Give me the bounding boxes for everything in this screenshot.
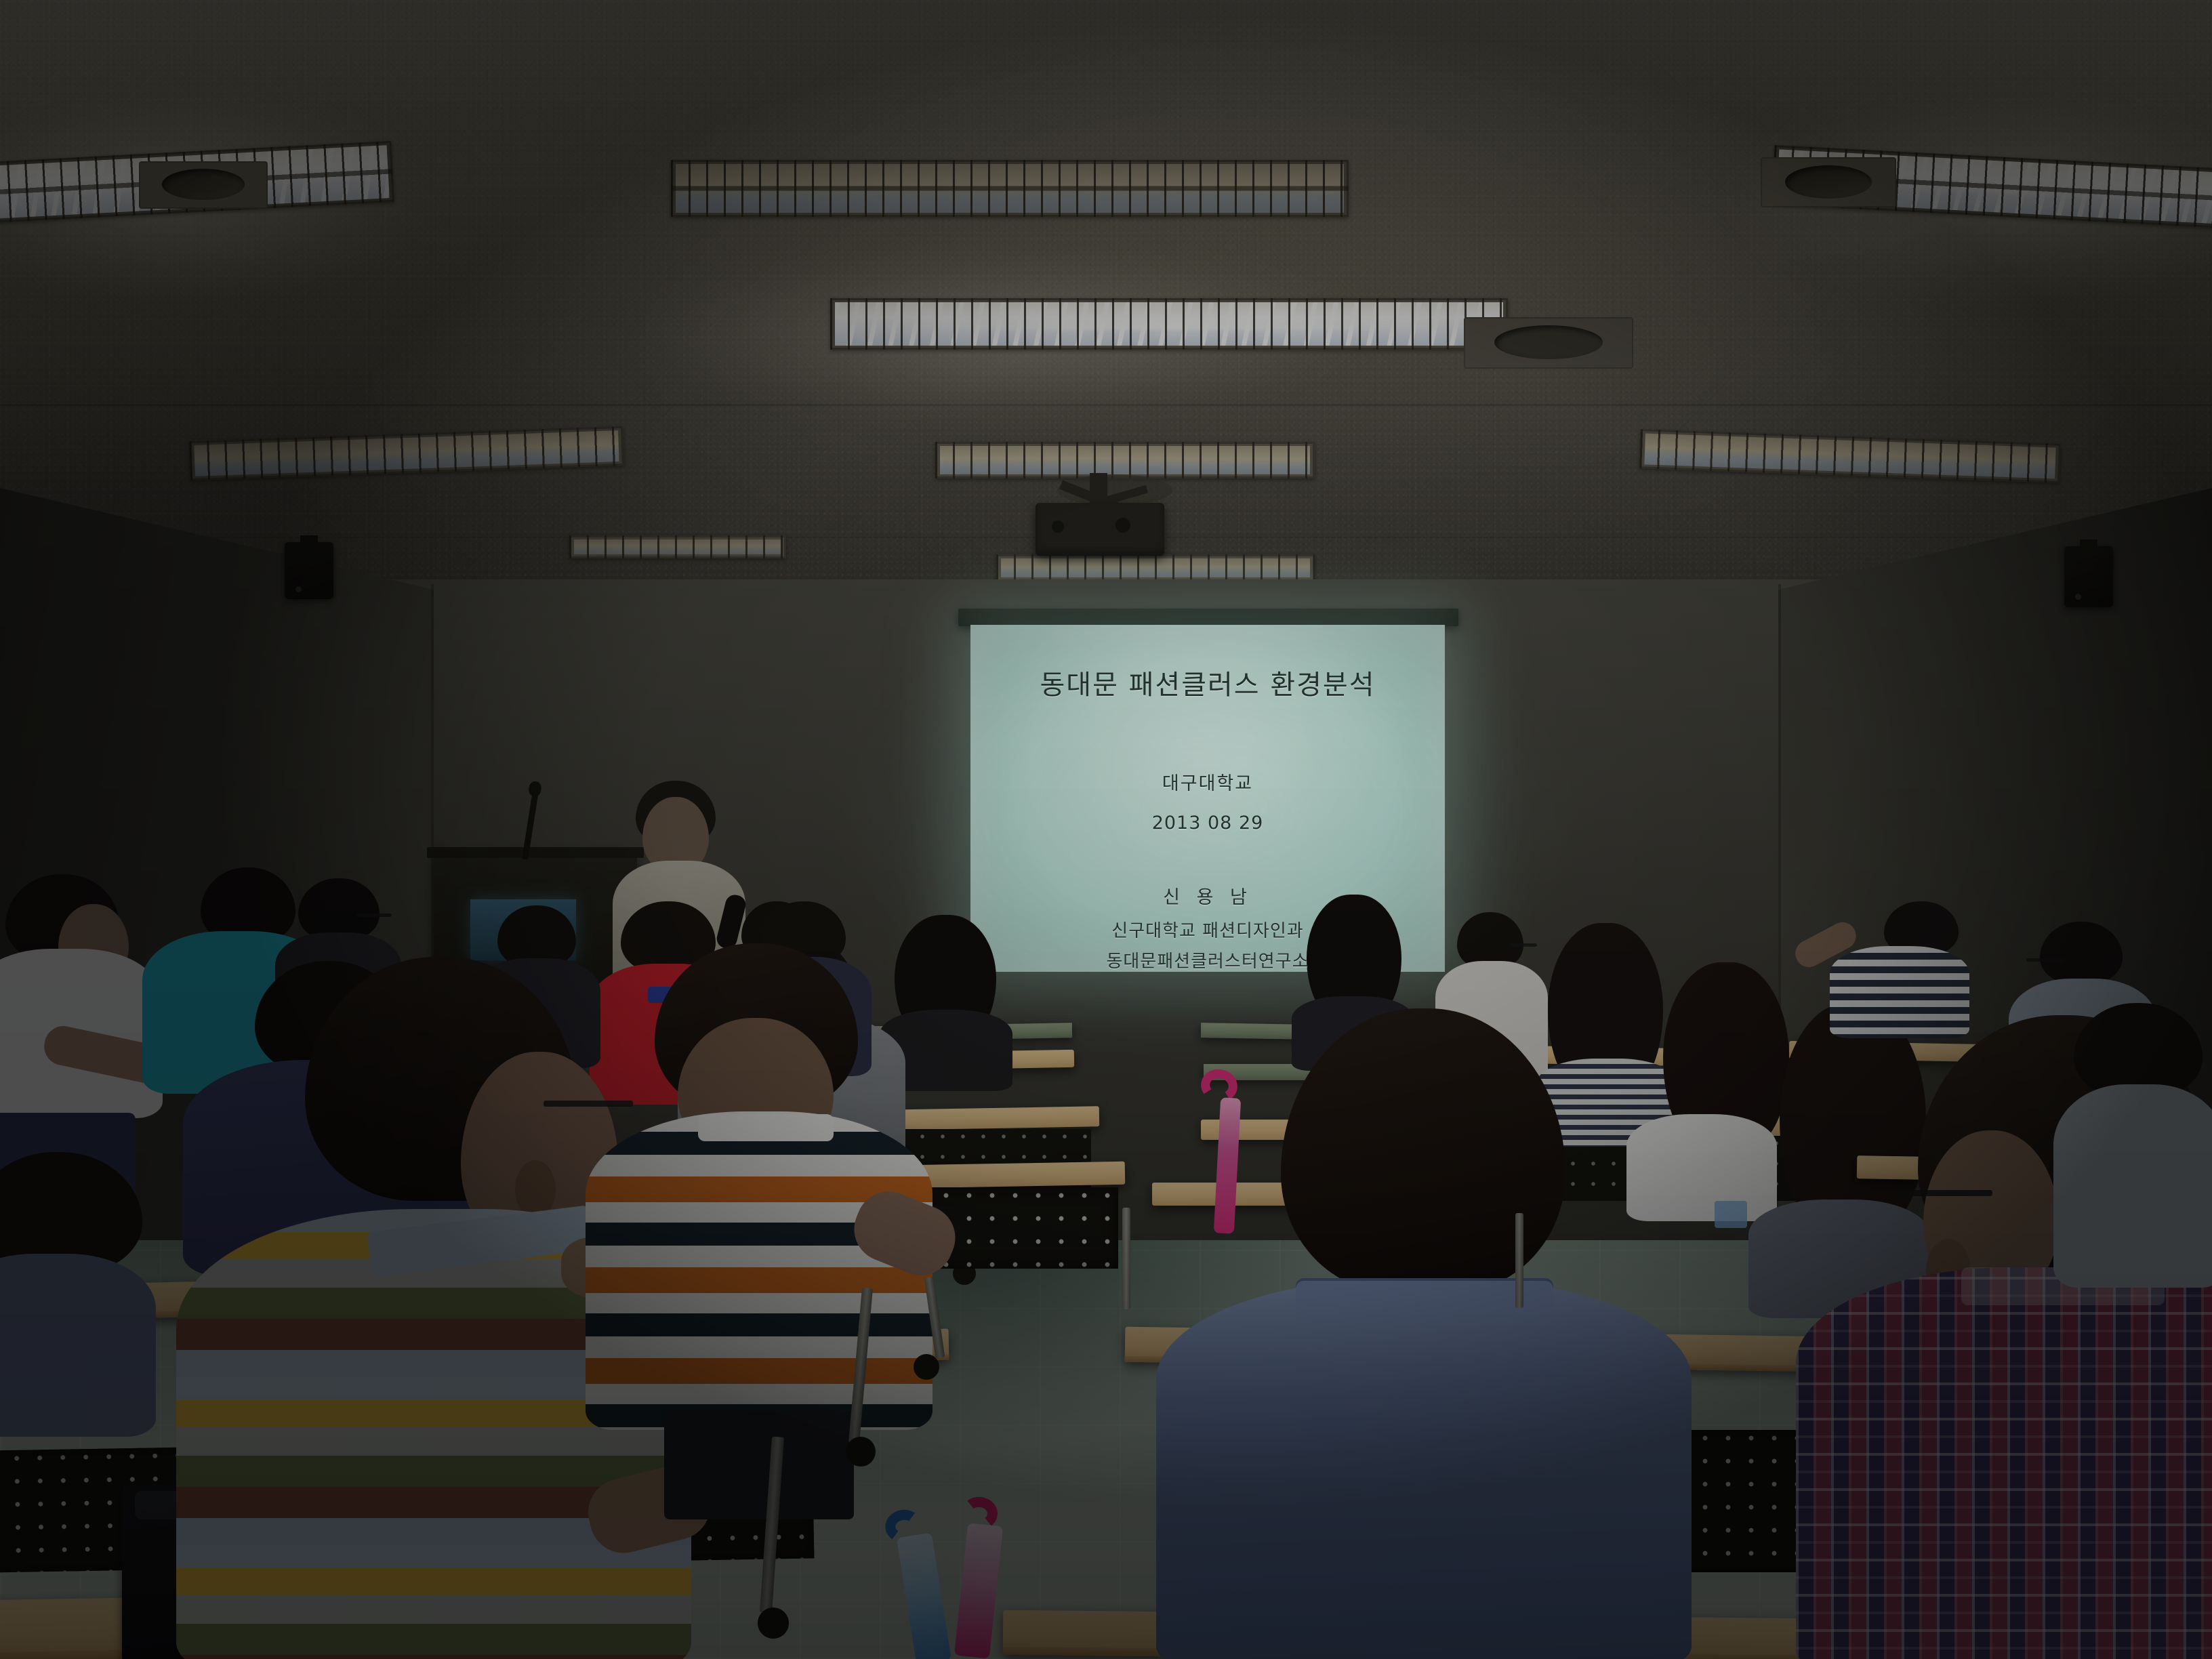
light-louver-grille	[671, 160, 1349, 217]
speaker-bracket	[300, 535, 318, 544]
light-louver-grille	[996, 554, 1315, 581]
ceiling-light-fixture	[935, 442, 1315, 478]
eyeglasses	[1898, 1190, 1992, 1196]
projector-lens-icon	[1115, 518, 1130, 533]
slide-affiliation-1: 신구대학교 패션디자인과	[970, 917, 1445, 942]
ceiling-light-fixture	[996, 554, 1315, 581]
hanging-umbrella	[1201, 1069, 1262, 1246]
vent-hole	[1785, 165, 1872, 199]
folded-umbrella-pink	[941, 1494, 1052, 1659]
rugby-striped-shirt	[586, 1111, 933, 1430]
chair-caster	[758, 1607, 789, 1639]
slide-organization: 대구대학교	[970, 769, 1445, 795]
light-louver-grille	[935, 442, 1315, 478]
slide-content: 동대문 패션클러스 환경분석 대구대학교 2013 08 29 신 용 남 신구…	[970, 663, 1445, 972]
chair-caster	[846, 1437, 876, 1467]
hair	[2040, 922, 2123, 984]
attendee-grey-right	[2053, 1003, 2212, 1288]
umbrella-canopy	[1214, 1097, 1241, 1233]
eyeglasses	[356, 914, 392, 917]
hair	[298, 878, 380, 941]
desk-leg	[1122, 1208, 1130, 1309]
speaker-indicator-icon	[2075, 594, 2081, 600]
plaid-shirt	[1796, 1267, 2212, 1659]
wall-speaker	[2064, 546, 2113, 607]
shirt	[0, 1254, 156, 1437]
shirt	[2053, 1084, 2212, 1288]
ceiling-seam	[0, 404, 2212, 406]
ceiling-projector	[1036, 503, 1164, 556]
ceiling-vent	[1464, 317, 1633, 369]
umbrella-canopy	[954, 1523, 1003, 1658]
blue-polo-shirt	[1156, 1279, 1692, 1659]
slide-title: 동대문 패션클러스 환경분석	[970, 663, 1445, 702]
shorts	[664, 1411, 854, 1519]
ceiling-vent	[1761, 157, 1896, 207]
wall-speaker	[285, 542, 333, 599]
ceiling-light-fixture	[671, 160, 1349, 217]
slide-presenter-name: 신 용 남	[970, 882, 1445, 909]
ceiling-light-fixture	[569, 535, 786, 558]
light-louver-grille	[830, 298, 1508, 350]
speaker-indicator-icon	[295, 586, 302, 592]
desk-leg	[1515, 1213, 1523, 1308]
polo-collar	[1296, 1278, 1553, 1326]
eyeglasses	[2026, 958, 2064, 962]
lecture-hall-photo: 동대문 패션클러스 환경분석 대구대학교 2013 08 29 신 용 남 신구…	[0, 0, 2212, 1659]
attendee-left-edge	[0, 1152, 169, 1437]
ceiling-light-fixture	[830, 298, 1508, 350]
bag-strap	[1715, 1201, 1747, 1228]
screen-housing-bar	[958, 609, 1458, 626]
slide-date: 2013 08 29	[970, 813, 1445, 834]
slide-affiliation-2: 동대문패션클러스터연구소	[970, 947, 1445, 972]
projector-lens-icon	[1052, 520, 1064, 533]
chair-caster	[914, 1354, 939, 1380]
shirt-collar	[698, 1114, 834, 1141]
hair	[2074, 1003, 2203, 1098]
speaker-bracket	[2080, 539, 2097, 548]
projection-screen: 동대문 패션클러스 환경분석 대구대학교 2013 08 29 신 용 남 신구…	[970, 625, 1445, 972]
light-louver-grille	[569, 535, 786, 558]
vent-hole	[162, 169, 245, 200]
ceiling-vent	[139, 161, 268, 209]
attendee-rugby-stripe	[596, 943, 922, 1499]
vent-hole	[1494, 325, 1603, 359]
